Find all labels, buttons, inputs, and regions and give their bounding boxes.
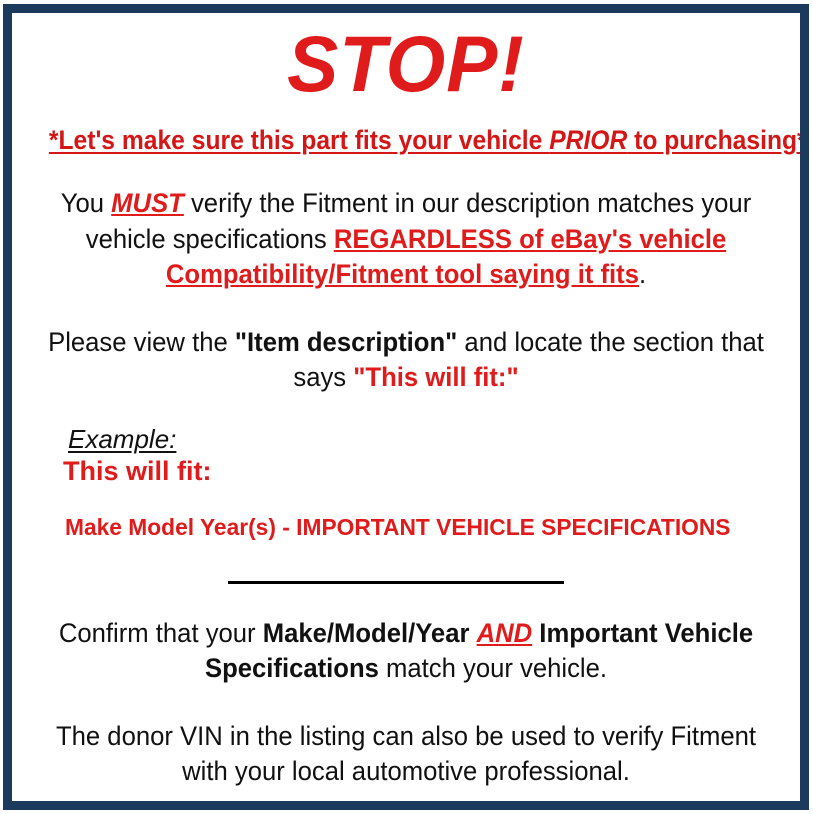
must-emphasis: MUST bbox=[111, 188, 184, 218]
item-seg-1: Please view the bbox=[48, 327, 235, 357]
item-description-paragraph: Please view the "Item description" and l… bbox=[41, 325, 771, 395]
example-label-row: Example: bbox=[68, 426, 790, 453]
tagline: *Let's make sure this part fits your veh… bbox=[49, 125, 763, 155]
confirm-seg-1: Confirm that your bbox=[59, 618, 263, 648]
must-paragraph: You MUST verify the Fitment in our descr… bbox=[41, 186, 771, 291]
example-label: Example: bbox=[68, 426, 176, 453]
stop-title: STOP! bbox=[34, 24, 779, 103]
example-spec-line: Make Model Year(s) - IMPORTANT VEHICLE S… bbox=[65, 514, 783, 542]
divider-row bbox=[22, 571, 790, 589]
tagline-after: to purchasing* bbox=[627, 125, 806, 155]
example-block: Example: This will fit: Make Model Year(… bbox=[22, 426, 790, 542]
confirm-seg-4: match your vehicle. bbox=[379, 653, 607, 683]
horizontal-divider bbox=[228, 581, 564, 584]
example-fit-heading: This will fit: bbox=[63, 455, 790, 489]
vin-paragraph: The donor VIN in the listing can also be… bbox=[41, 719, 771, 789]
confirm-paragraph: Confirm that your Make/Model/Year AND Im… bbox=[41, 616, 771, 686]
must-seg-3: . bbox=[639, 259, 646, 289]
make-model-year-bold: Make/Model/Year bbox=[263, 618, 470, 648]
this-will-fit-quote: "This will fit:" bbox=[353, 362, 518, 392]
must-seg-1: You bbox=[61, 188, 111, 218]
and-emphasis: AND bbox=[477, 618, 533, 648]
item-description-label: "Item description" bbox=[235, 327, 457, 357]
fitment-notice-frame: STOP! *Let's make sure this part fits yo… bbox=[0, 0, 813, 814]
tagline-before: *Let's make sure this part fits your veh… bbox=[49, 125, 549, 155]
tagline-prior-emphasis: PRIOR bbox=[549, 125, 627, 155]
fitment-notice-panel: STOP! *Let's make sure this part fits yo… bbox=[3, 4, 809, 810]
